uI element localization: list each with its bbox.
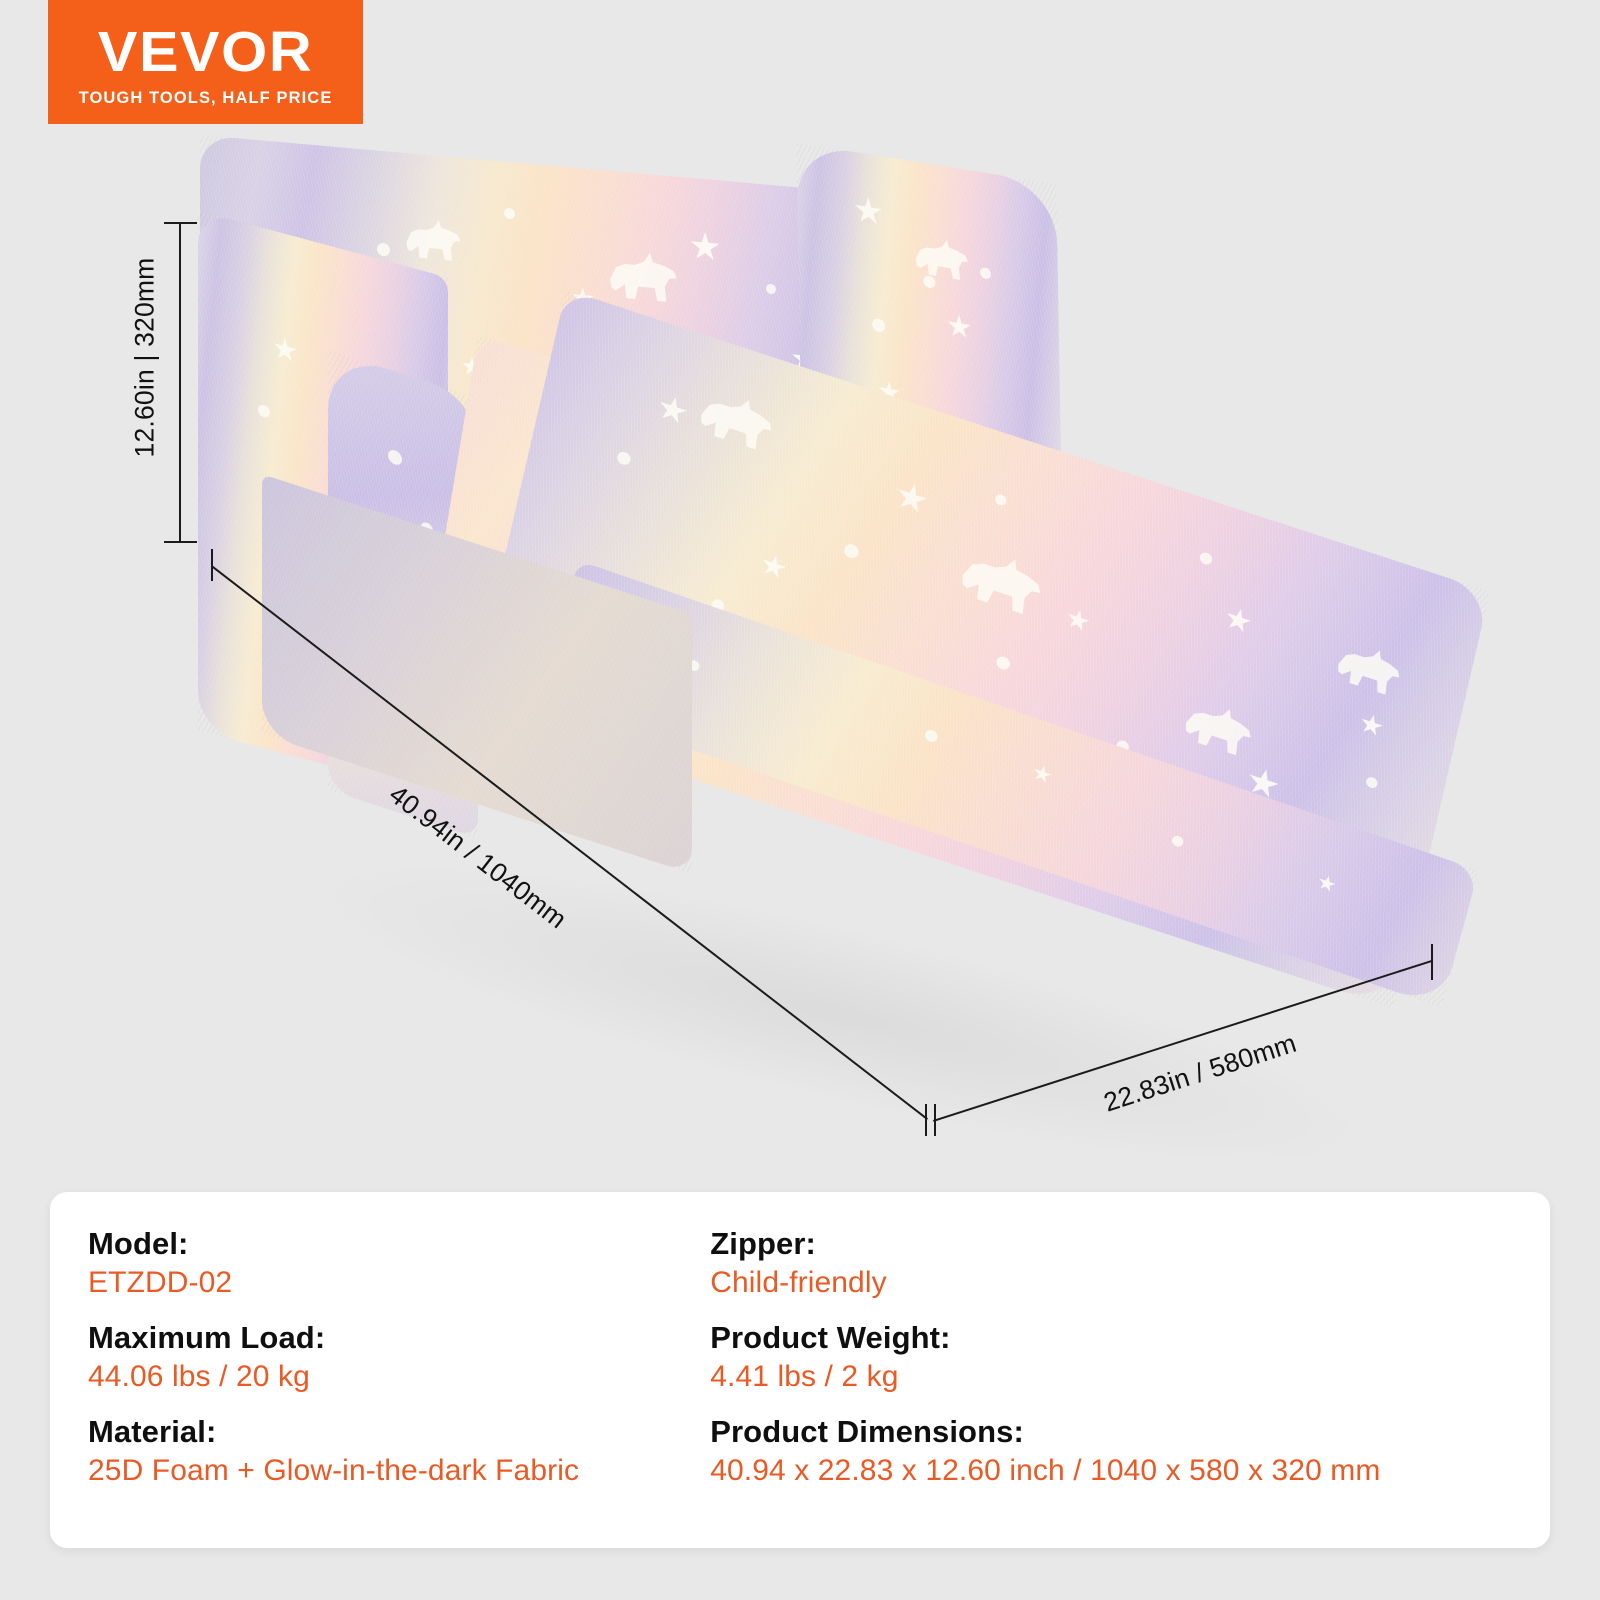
spec-value-zipper: Child-friendly bbox=[710, 1268, 1530, 1298]
vevor-logo: VEVOR TOUGH TOOLS, HALF PRICE bbox=[48, 0, 363, 124]
spec-value-max-load: 44.06 lbs / 20 kg bbox=[88, 1362, 710, 1392]
depth-tick-right bbox=[1431, 944, 1433, 980]
spec-column-right: Zipper: Child-friendly Product Weight: 4… bbox=[710, 1228, 1530, 1486]
brand-wordmark: VEVOR bbox=[98, 24, 313, 81]
specification-card: Model: ETZDD-02 Maximum Load: 44.06 lbs … bbox=[50, 1192, 1550, 1548]
spec-key-dimensions: Product Dimensions: bbox=[710, 1416, 1530, 1447]
spec-key-material: Material: bbox=[88, 1416, 710, 1447]
spec-key-model: Model: bbox=[88, 1228, 710, 1259]
height-tick-bottom bbox=[164, 541, 197, 543]
spec-key-zipper: Zipper: bbox=[710, 1228, 1530, 1259]
brand-tagline: TOUGH TOOLS, HALF PRICE bbox=[79, 90, 333, 107]
spec-column-left: Model: ETZDD-02 Maximum Load: 44.06 lbs … bbox=[88, 1228, 710, 1486]
spec-value-material: 25D Foam + Glow-in-the-dark Fabric bbox=[88, 1456, 710, 1486]
spec-value-weight: 4.41 lbs / 2 kg bbox=[710, 1362, 1530, 1392]
spec-value-model: ETZDD-02 bbox=[88, 1268, 710, 1298]
depth-tick-left-a bbox=[925, 1104, 927, 1136]
product-image: 12.60in | 320mm 40.94in / 1040mm 22.83in… bbox=[0, 124, 1600, 1184]
spec-value-dimensions: 40.94 x 22.83 x 12.60 inch / 1040 x 580 … bbox=[710, 1456, 1530, 1486]
spec-key-weight: Product Weight: bbox=[710, 1322, 1530, 1353]
dimension-height-label: 12.60in | 320mm bbox=[129, 258, 160, 458]
height-line bbox=[179, 223, 181, 542]
spec-key-max-load: Maximum Load: bbox=[88, 1322, 710, 1353]
